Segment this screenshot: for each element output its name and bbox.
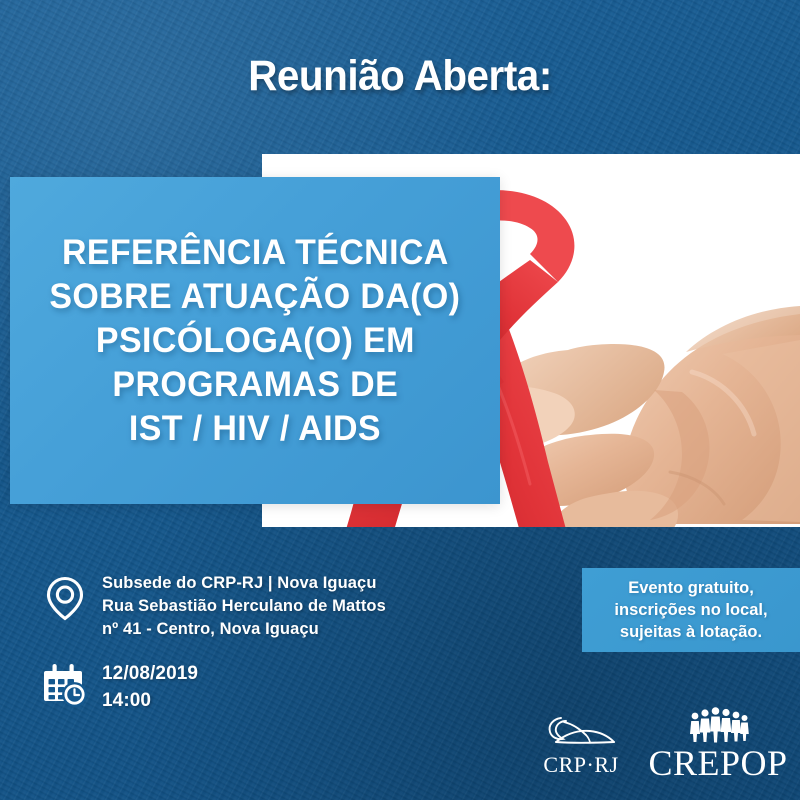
address-line-3: nº 41 - Centro, Nova Iguaçu — [102, 618, 386, 641]
page-title: Reunião Aberta: — [24, 52, 776, 101]
event-poster: Reunião Aberta: — [0, 0, 800, 800]
title-line-1: REFERÊNCIA TÉCNICA — [62, 231, 449, 275]
free-banner-line-2: inscrições no local, — [614, 599, 767, 621]
main-title-card: REFERÊNCIA TÉCNICA SOBRE ATUAÇÃO DA(O) P… — [10, 177, 500, 504]
crp-rj-logo: CRP·RJ — [528, 712, 634, 784]
venue-address-text: Subsede do CRP-RJ | Nova Iguaçu Rua Seba… — [102, 572, 386, 641]
people-group-mark-icon — [648, 706, 788, 744]
crepop-wordmark: CREPOP — [648, 744, 788, 782]
crp-rj-wordmark: CRP·RJ — [528, 752, 634, 778]
address-line-2: Rua Sebastião Herculano de Mattos — [102, 595, 386, 618]
title-line-4: PROGRAMAS DE — [112, 363, 398, 407]
address-line-1: Subsede do CRP-RJ | Nova Iguaçu — [102, 572, 386, 595]
event-time: 14:00 — [102, 687, 198, 714]
crepop-logo: CREPOP — [648, 706, 788, 784]
free-banner-line-1: Evento gratuito, — [628, 577, 754, 599]
event-schedule-text: 12/08/2019 14:00 — [102, 660, 198, 714]
bird-book-mark-icon — [528, 712, 634, 752]
title-line-2: SOBRE ATUAÇÃO DA(O) — [50, 275, 461, 319]
title-line-3: PSICÓLOGA(O) EM — [96, 319, 415, 363]
free-banner-line-3: sujeitas à lotação. — [620, 621, 762, 643]
venue-address-block: Subsede do CRP-RJ | Nova Iguaçu Rua Seba… — [42, 572, 386, 641]
event-schedule-block: 12/08/2019 14:00 — [42, 660, 198, 714]
title-line-5: IST / HIV / AIDS — [129, 407, 381, 451]
event-date: 12/08/2019 — [102, 660, 198, 687]
location-pin-icon — [42, 575, 88, 621]
calendar-clock-icon — [42, 662, 88, 708]
free-event-banner: Evento gratuito, inscrições no local, su… — [582, 568, 800, 652]
